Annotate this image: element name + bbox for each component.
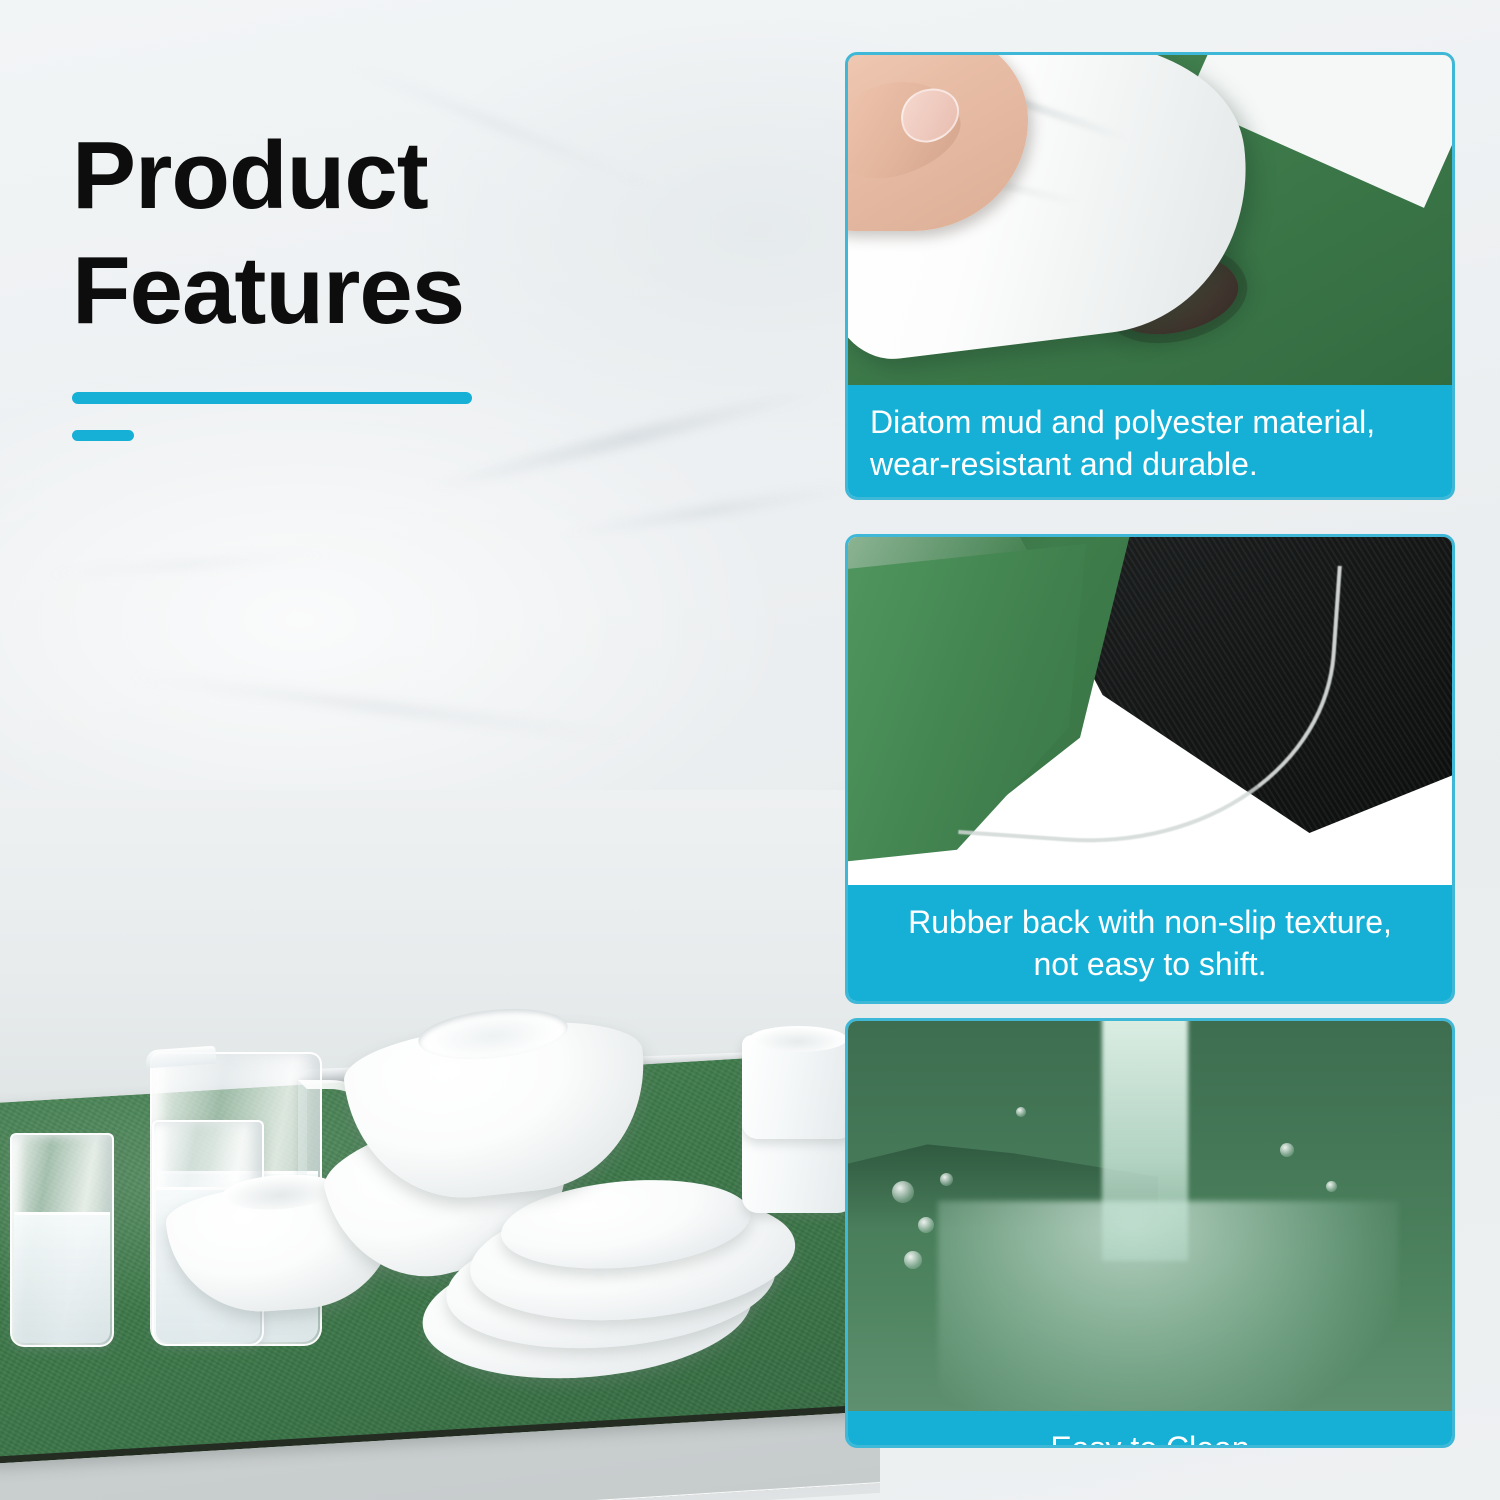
water-stream	[1102, 1021, 1188, 1261]
page-title-line-2: Features	[72, 233, 732, 348]
caption-line-1: Diatom mud and polyester material,	[870, 401, 1430, 443]
page-title-line-1: Product	[72, 118, 732, 233]
marble-vein	[40, 550, 340, 580]
feature-card-material[interactable]: Diatom mud and polyester material, wear-…	[845, 52, 1455, 500]
white-cup	[742, 1035, 854, 1139]
feature-caption-easy-clean: Easy to Clean	[848, 1411, 1452, 1448]
feature-image-absorbent-surface	[848, 55, 1452, 385]
water-bubble	[904, 1251, 922, 1269]
marble-vein	[121, 668, 639, 745]
pitcher-spout	[145, 1046, 216, 1069]
water-bubble	[1280, 1143, 1294, 1157]
water-bubble	[918, 1217, 934, 1233]
glass-water	[14, 1212, 110, 1343]
feature-image-water-rinse	[848, 1021, 1452, 1411]
drinking-glass	[10, 1133, 114, 1347]
title-underline-short	[72, 430, 134, 441]
water-bubble	[1016, 1107, 1026, 1117]
feature-card-rubber-back[interactable]: Rubber back with non-slip texture, not e…	[845, 534, 1455, 1004]
water-bubble	[892, 1181, 914, 1203]
caption-line-1: Easy to Clean	[870, 1427, 1430, 1448]
title-underline-long	[72, 392, 472, 404]
marble-vein	[561, 482, 859, 541]
caption-line-2: not easy to shift.	[870, 943, 1430, 985]
water-bubble	[1326, 1181, 1337, 1192]
feature-caption-material: Diatom mud and polyester material, wear-…	[848, 385, 1452, 500]
page-title: Product Features	[72, 118, 732, 441]
caption-line-2: wear-resistant and durable.	[870, 443, 1430, 485]
stacked-white-cups	[742, 1035, 854, 1220]
water-bubble	[940, 1173, 953, 1186]
feature-caption-rubber-back: Rubber back with non-slip texture, not e…	[848, 885, 1452, 1003]
caption-line-1: Rubber back with non-slip texture,	[870, 901, 1430, 943]
feature-card-easy-clean[interactable]: Easy to Clean	[845, 1018, 1455, 1448]
feature-image-rubber-backing	[848, 537, 1452, 885]
